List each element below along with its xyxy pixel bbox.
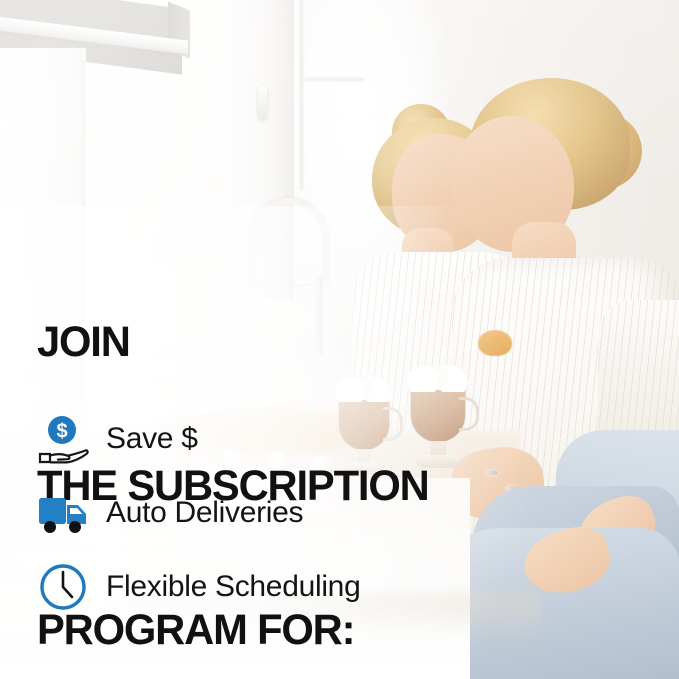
- benefit-item-flexible-scheduling: Flexible Scheduling: [36, 560, 360, 614]
- benefit-label-auto-deliveries: Auto Deliveries: [106, 496, 303, 530]
- headline-line-1: JOIN: [37, 318, 429, 366]
- promo-card: JOIN THE SUBSCRIPTION PROGRAM FOR: $ Sav…: [0, 0, 679, 679]
- benefit-label-flexible-scheduling: Flexible Scheduling: [106, 570, 360, 604]
- benefits-list: $ Save $: [36, 412, 360, 614]
- benefit-item-auto-deliveries: Auto Deliveries: [36, 486, 360, 540]
- promo-overlay: JOIN THE SUBSCRIPTION PROGRAM FOR: $ Sav…: [0, 0, 679, 679]
- benefit-item-save: $ Save $: [36, 412, 360, 466]
- svg-text:$: $: [56, 421, 67, 443]
- hand-holding-dollar-coin-icon: $: [36, 412, 90, 466]
- clock-icon: [36, 560, 90, 614]
- delivery-truck-icon: [36, 486, 90, 540]
- benefit-label-save: Save $: [106, 422, 198, 456]
